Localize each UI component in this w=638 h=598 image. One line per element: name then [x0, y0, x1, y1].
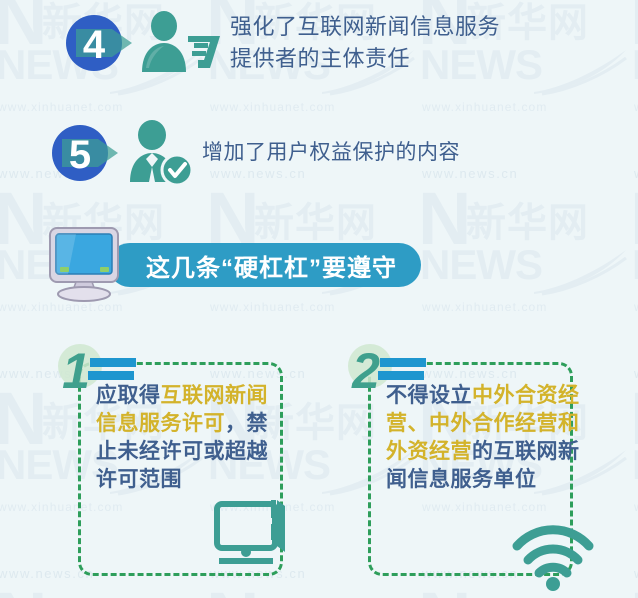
rule-number-2: 2 — [340, 340, 432, 398]
infographic-page: www.news.cnN新华网NEWSwww.xinhuanet.comwww.… — [0, 0, 638, 598]
rule-text-1: 应取得互联网新闻信息服务许可，禁止未经许可或超越许可范围 — [96, 382, 286, 494]
list-item-4-line-1: 强化了互联网新闻信息服务 — [230, 11, 500, 43]
list-item-4-line-2: 提供者的主体责任 — [230, 43, 500, 75]
list-item-5: 5 增加了用户权益保护的内容 — [48, 120, 460, 186]
badge-number-5: 5 — [69, 133, 91, 177]
rule-number-1-text: 1 — [62, 343, 90, 398]
banner-title: 这几条“硬杠杠”要遵守 — [146, 248, 397, 283]
badge-number-4: 4 — [83, 23, 106, 67]
rule-number-1: 1 — [50, 340, 142, 398]
section-banner: 这几条“硬杠杠”要遵守 — [46, 226, 421, 304]
list-item-5-line-1: 增加了用户权益保护的内容 — [202, 138, 460, 168]
list-item-4-text: 强化了互联网新闻信息服务 提供者的主体责任 — [230, 11, 500, 75]
person-check-icon — [122, 120, 194, 186]
content-layer: 4 强化了互联网新闻信息服务 提供者的主体责任 — [0, 0, 638, 598]
tv-outline-icon — [213, 496, 293, 566]
rule-number-2-text: 2 — [351, 343, 380, 398]
banner-pill: 这几条“硬杠杠”要遵守 — [108, 243, 421, 287]
person-at-desk-icon — [136, 10, 220, 76]
desktop-monitor-icon — [46, 226, 126, 304]
list-item-4: 4 强化了互联网新闻信息服务 提供者的主体责任 — [62, 10, 500, 76]
number-badge-4: 4 — [62, 10, 136, 76]
list-item-5-text: 增加了用户权益保护的内容 — [202, 138, 460, 168]
rule-text-2: 不得设立中外合资经营、中外合作经营和外资经营的互联网新闻信息服务单位 — [386, 382, 582, 494]
wifi-signal-icon — [511, 522, 595, 592]
number-badge-5: 5 — [48, 120, 122, 186]
